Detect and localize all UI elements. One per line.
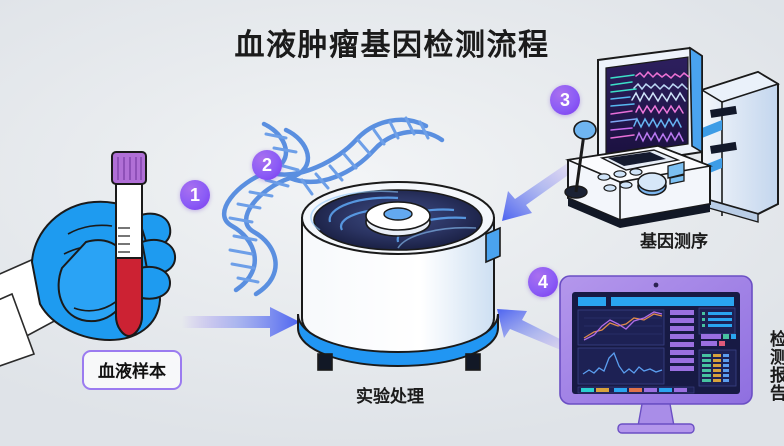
report-monitor-icon	[556, 274, 756, 446]
gene-sequencing-label: 基因测序	[640, 227, 708, 252]
test-report-label: 检测报告	[767, 330, 784, 402]
step-badge-1: 1	[180, 180, 210, 210]
blood-sample-label: 血液样本	[82, 350, 182, 390]
lab-processing-label: 实验处理	[356, 382, 424, 407]
sequencer-control-panel	[568, 146, 710, 228]
blood-sample-illustration	[0, 130, 190, 370]
sequencer-machine-icon	[562, 48, 784, 233]
step-badge-2: 2	[252, 150, 282, 180]
sequencer-tower	[702, 72, 778, 222]
gloved-hand-icon	[32, 202, 175, 340]
step-badge-3: 3	[550, 85, 580, 115]
test-tube-icon	[112, 152, 146, 336]
centrifuge-icon	[290, 178, 515, 373]
step-badge-4: 4	[528, 267, 558, 297]
arrow-right-icon	[182, 303, 307, 345]
infographic-canvas: 血液肿瘤基因检测流程	[0, 0, 784, 446]
